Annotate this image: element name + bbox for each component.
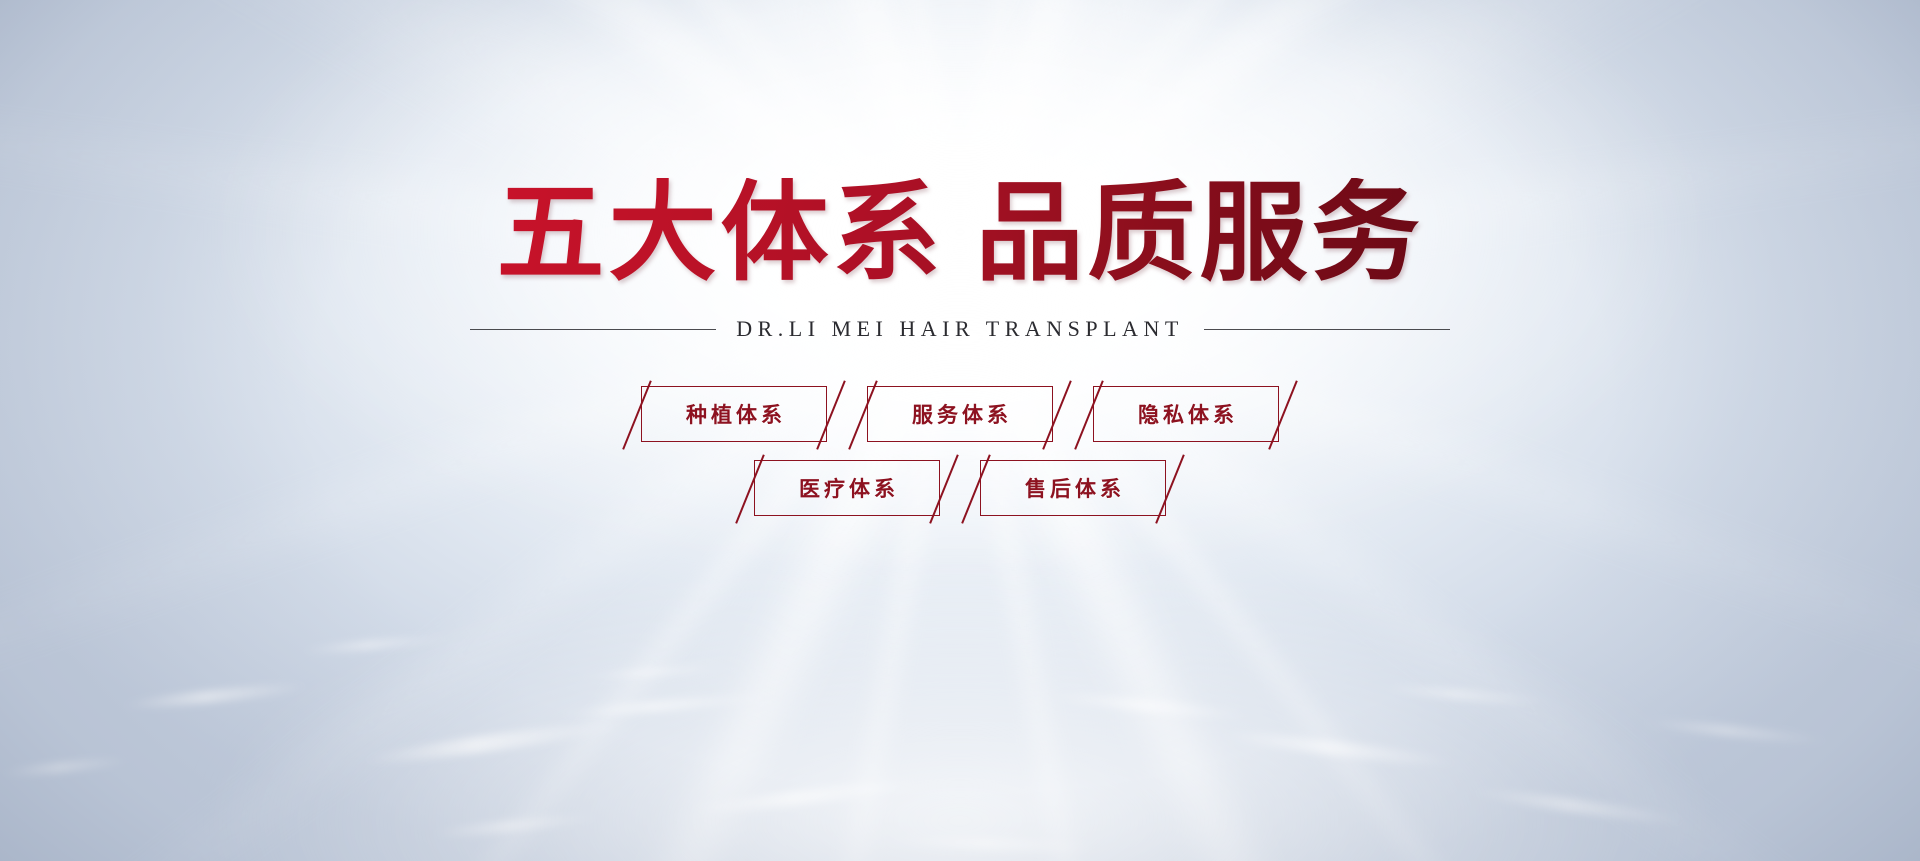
rule-right — [1204, 329, 1450, 330]
banner-content: 五大体系 品质服务 DR.LI MEI HAIR TRANSPLANT 种植体系… — [0, 0, 1920, 861]
system-pill-privacy[interactable]: 隐私体系 — [1093, 386, 1279, 442]
system-pill-label: 隐私体系 — [1138, 399, 1238, 429]
system-pill-label: 售后体系 — [1025, 473, 1125, 503]
system-pill-group: 种植体系 服务体系 隐私体系 医疗体系 — [641, 386, 1279, 516]
slash-decoration-icon — [848, 381, 877, 450]
slash-decoration-icon — [817, 381, 846, 450]
slash-decoration-icon — [1269, 381, 1298, 450]
page-title: 五大体系 品质服务 — [496, 178, 1423, 292]
slash-decoration-icon — [1043, 381, 1072, 450]
slash-decoration-icon — [622, 381, 651, 450]
system-pill-aftersales[interactable]: 售后体系 — [980, 460, 1166, 516]
slash-decoration-icon — [930, 455, 959, 524]
system-pill-row-2: 医疗体系 售后体系 — [754, 460, 1166, 516]
system-pill-label: 医疗体系 — [799, 473, 899, 503]
system-pill-row-1: 种植体系 服务体系 隐私体系 — [641, 386, 1279, 442]
subtitle-row: DR.LI MEI HAIR TRANSPLANT — [470, 316, 1450, 342]
system-pill-planting[interactable]: 种植体系 — [641, 386, 827, 442]
slash-decoration-icon — [961, 455, 990, 524]
slash-decoration-icon — [1156, 455, 1185, 524]
slash-decoration-icon — [735, 455, 764, 524]
rule-left — [470, 329, 716, 330]
system-pill-medical[interactable]: 医疗体系 — [754, 460, 940, 516]
hero-banner: 五大体系 品质服务 DR.LI MEI HAIR TRANSPLANT 种植体系… — [0, 0, 1920, 861]
system-pill-label: 服务体系 — [912, 399, 1012, 429]
system-pill-service[interactable]: 服务体系 — [867, 386, 1053, 442]
subtitle-text: DR.LI MEI HAIR TRANSPLANT — [736, 316, 1184, 342]
system-pill-label: 种植体系 — [686, 399, 786, 429]
slash-decoration-icon — [1074, 381, 1103, 450]
